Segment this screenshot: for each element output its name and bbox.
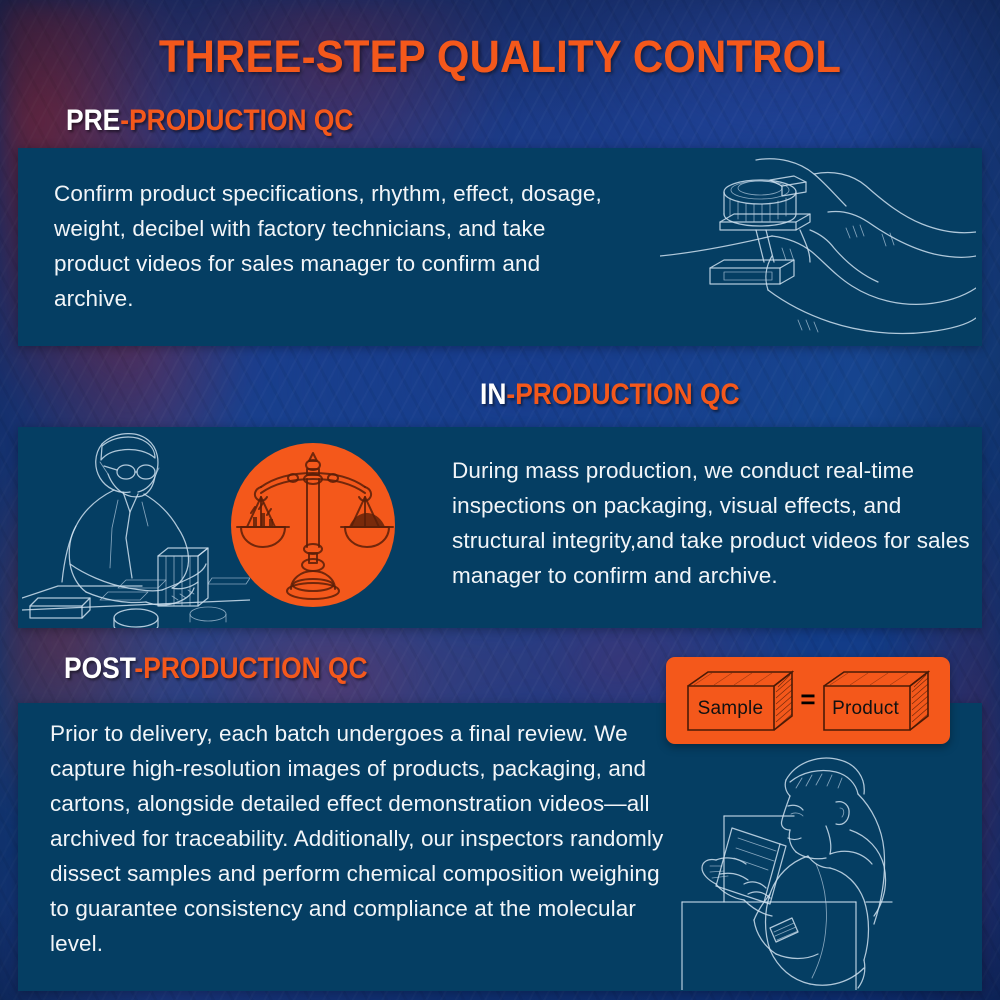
product-label: Product	[822, 686, 910, 732]
step-heading-prefix: PRE	[66, 104, 120, 137]
sample-equals-product-badge: Sample = Product	[666, 657, 950, 744]
panel-post-production: Prior to delivery, each batch undergoes …	[18, 703, 982, 991]
panel-in-production: During mass production, we conduct real-…	[18, 427, 982, 628]
step-heading-post-production: POST-PRODUCTION QC	[64, 652, 368, 686]
step-heading-prefix: IN	[480, 378, 506, 411]
step-heading-pre-production: PRE-PRODUCTION QC	[66, 104, 353, 138]
step-heading-suffix: -PRODUCTION QC	[120, 104, 353, 137]
panel-body-in-production: During mass production, we conduct real-…	[452, 453, 992, 593]
infographic-poster: THREE-STEP QUALITY CONTROL PRE-PRODUCTIO…	[0, 0, 1000, 1000]
step-heading-in-production: IN-PRODUCTION QC	[480, 378, 740, 412]
step-heading-suffix: -PRODUCTION QC	[506, 378, 739, 411]
product-box-icon: Product	[822, 670, 930, 732]
sample-box-icon: Sample	[686, 670, 794, 732]
page-title: THREE-STEP QUALITY CONTROL	[35, 31, 965, 83]
panel-body-pre-production: Confirm product specifications, rhythm, …	[54, 176, 614, 316]
panel-pre-production: Confirm product specifications, rhythm, …	[18, 148, 982, 346]
step-heading-suffix: -PRODUCTION QC	[134, 652, 367, 685]
equals-sign: =	[798, 684, 817, 715]
step-heading-prefix: POST	[64, 652, 134, 685]
panel-body-post-production: Prior to delivery, each batch undergoes …	[50, 716, 670, 961]
sample-label: Sample	[686, 686, 774, 732]
balance-scale-icon	[231, 443, 395, 607]
